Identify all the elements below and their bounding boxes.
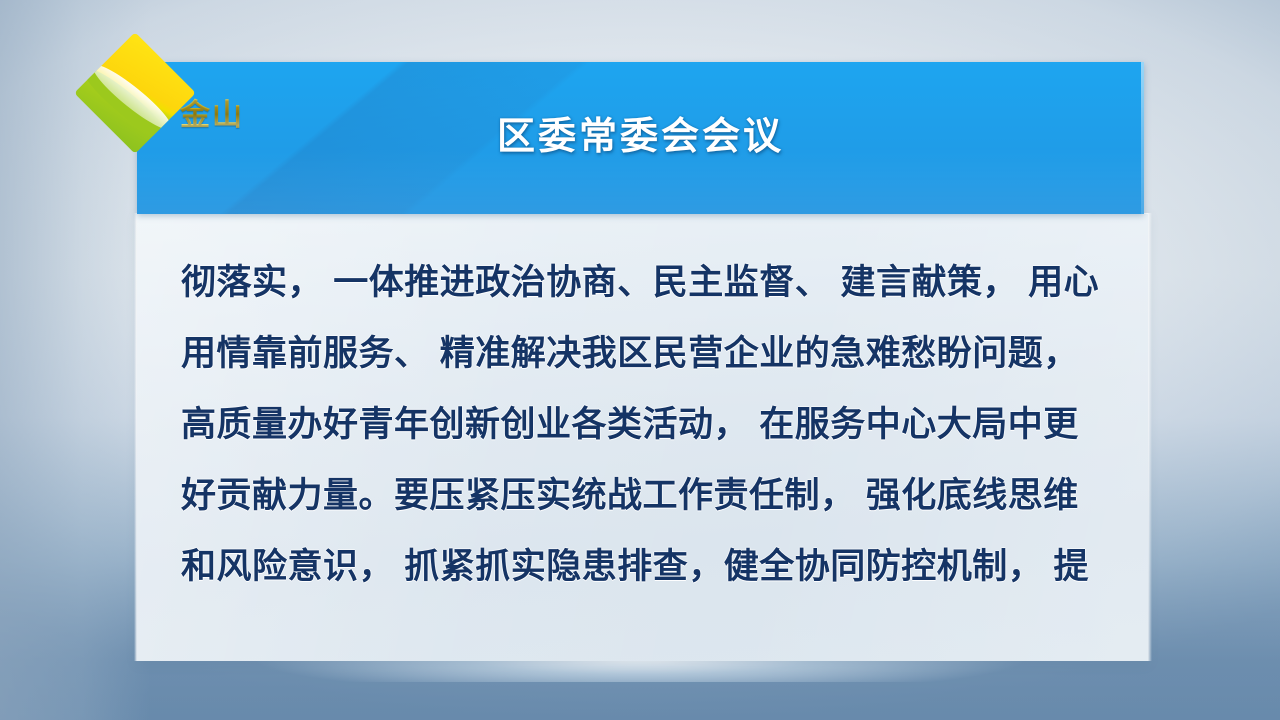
headline-title: 区委常委会会议 (137, 105, 1144, 160)
broadcast-screen: 彻落实， 一体推进政治协商、民主监督、 建言献策， 用心 用情靠前服务、 精准解… (0, 0, 1280, 720)
body-line: 用情靠前服务、 精准解决我区民营企业的急难愁盼问题， (181, 318, 1111, 389)
body-line: 好贡献力量。要压紧压实统战工作责任制， 强化底线思维 (181, 460, 1111, 531)
channel-logo-text: 金山 (180, 90, 244, 134)
headline-subtitle: 传达学习全国统战部长会议精神 研究部署我区统一战线工作 (137, 204, 1144, 214)
news-body-text: 彻落实， 一体推进政治协商、民主监督、 建言献策， 用心 用情靠前服务、 精准解… (181, 247, 1111, 602)
logo-white-wave-shape (87, 58, 177, 136)
content-panel: 彻落实， 一体推进政治协商、民主监督、 建言献策， 用心 用情靠前服务、 精准解… (137, 213, 1148, 661)
channel-logo: 金山 (92, 50, 272, 142)
body-line: 和风险意识， 抓紧抓实隐患排查，健全协同防控机制， 提 (181, 531, 1111, 602)
panel-left-edge (134, 213, 137, 661)
panel-right-edge (1148, 213, 1152, 661)
diamond-mountain-logo-icon (74, 32, 196, 154)
body-line: 彻落实， 一体推进政治协商、民主监督、 建言献策， 用心 (181, 247, 1111, 318)
headline-banner: 区委常委会会议 传达学习全国统战部长会议精神 研究部署我区统一战线工作 (137, 62, 1144, 214)
body-line: 高质量办好青年创新创业各类活动， 在服务中心大局中更 (181, 389, 1111, 460)
